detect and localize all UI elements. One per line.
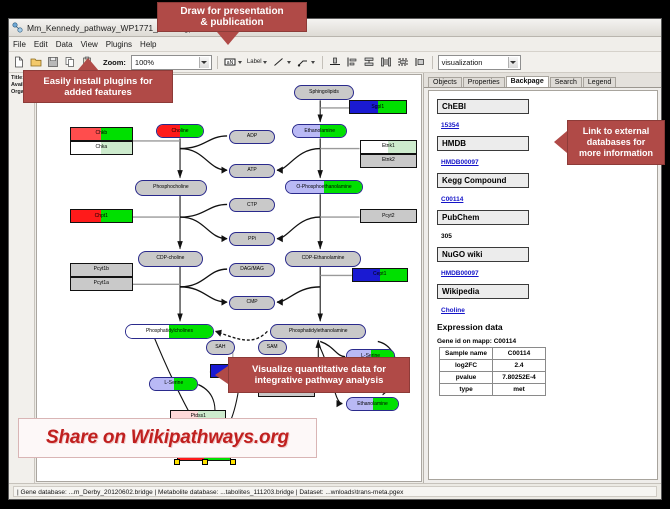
callout-plugins-line1: Easily install plugins for <box>43 76 152 87</box>
datanode-icon[interactable]: aN <box>223 55 237 69</box>
callout-draw: Draw for presentation & publication <box>157 2 307 32</box>
database-section-header: NuGO wiki <box>437 247 529 262</box>
menu-bar: File Edit Data View Plugins Help <box>9 37 661 52</box>
node-label: CMP <box>246 300 257 305</box>
menu-item-plugins[interactable]: Plugins <box>106 40 132 49</box>
database-value: 305 <box>441 233 452 240</box>
gene-node[interactable]: Sgpl1 <box>349 100 407 114</box>
callout-draw-arrow-icon <box>217 32 239 45</box>
selection-handle[interactable] <box>174 459 180 465</box>
line-dropdown[interactable] <box>272 55 293 69</box>
node-label: Pcyt2 <box>382 214 395 219</box>
table-cell: met <box>493 384 546 396</box>
gene-node[interactable]: Chka <box>70 141 133 155</box>
node-label: DAG/MAG <box>240 267 264 272</box>
menu-item-data[interactable]: Data <box>56 40 73 49</box>
node-label: CDP-choline <box>156 256 184 261</box>
callout-visualize-line1: Visualize quantitative data for <box>252 364 386 375</box>
table-row: pvalue7.80252E-4 <box>440 372 546 384</box>
table-cell: log2FC <box>440 360 493 372</box>
metabolite-node[interactable]: CDP-choline <box>138 251 203 266</box>
tab-backpage[interactable]: Backpage <box>506 76 549 87</box>
gene-node[interactable]: Etnk2 <box>360 154 418 168</box>
node-label: Chka <box>95 145 107 150</box>
node-label: PPi <box>248 237 256 242</box>
svg-text:aN: aN <box>227 60 234 66</box>
menu-item-file[interactable]: File <box>13 40 26 49</box>
node-label: SAM <box>267 345 278 350</box>
distribute-icon[interactable] <box>379 55 393 69</box>
callout-link-line3: more information <box>579 148 653 158</box>
metabolite-node[interactable]: Ethanolamine <box>292 124 347 138</box>
callout-share-text: Share on Wikipathways.org <box>46 427 289 449</box>
database-link[interactable]: Choline <box>441 307 465 314</box>
table-row: log2FC2.4 <box>440 360 546 372</box>
chevron-down-icon-2[interactable] <box>508 57 518 68</box>
tab-legend[interactable]: Legend <box>583 77 616 87</box>
metabolite-node[interactable]: Ethanolamine <box>346 397 399 411</box>
toolbar-separator <box>217 56 218 69</box>
database-link[interactable]: HMDB00097 <box>441 159 479 166</box>
node-label: ADP <box>247 134 257 139</box>
table-cell: C00114 <box>493 348 546 360</box>
toolbar-separator-3 <box>432 56 433 69</box>
table-cell: 7.80252E-4 <box>493 372 546 384</box>
gene-node[interactable]: Cept1 <box>352 268 408 282</box>
metabolite-node[interactable]: ADP <box>229 130 275 144</box>
metabolite-node[interactable]: Phosphatidylethanolamine <box>270 324 366 339</box>
group-icon[interactable] <box>396 55 410 69</box>
metabolite-node[interactable]: Choline <box>156 124 204 138</box>
zoom-value: 100% <box>135 58 154 67</box>
interaction-dropdown[interactable] <box>296 55 317 69</box>
gene-node[interactable]: Pcyt2 <box>360 209 418 223</box>
menu-item-view[interactable]: View <box>81 40 98 49</box>
node-label: Pcyt1a <box>94 281 109 286</box>
copy-icon[interactable] <box>63 55 77 69</box>
selection-handle[interactable] <box>202 459 208 465</box>
node-label: CTP <box>247 203 257 208</box>
tab-properties[interactable]: Properties <box>463 77 505 87</box>
new-file-icon[interactable] <box>12 55 26 69</box>
metabolite-node[interactable]: ATP <box>229 164 275 178</box>
node-label: SAH <box>215 345 225 350</box>
visualization-value: visualization <box>442 58 483 67</box>
node-label: Etnk2 <box>382 158 395 163</box>
label-dropdown-text: Label <box>247 59 262 65</box>
node-label: Ethanolamine <box>357 402 388 407</box>
table-cell: 2.4 <box>493 360 546 372</box>
callout-share: Share on Wikipathways.org <box>18 418 317 458</box>
node-label: O-Phosphoethanolamine <box>296 185 351 190</box>
callout-link: Link to external databases for more info… <box>567 120 665 165</box>
table-row: Sample nameC00114 <box>440 348 546 360</box>
window-titlebar: Mm_Kennedy_pathway_WP1771_45176.gpml <box>9 19 661 37</box>
node-label: Ethanolamine <box>304 129 335 134</box>
zoom-label: Zoom: <box>103 58 126 67</box>
database-link[interactable]: 15354 <box>441 122 459 129</box>
database-section-header: Kegg Compound <box>437 173 529 188</box>
callout-plugins: Easily install plugins for added feature… <box>23 70 173 103</box>
table-row: typemet <box>440 384 546 396</box>
database-section-header: ChEBI <box>437 99 529 114</box>
callout-draw-line2: & publication <box>200 17 263 28</box>
side-panel-tabs: Objects Properties Backpage Search Legen… <box>424 73 661 88</box>
node-label: Chpt1 <box>95 214 108 219</box>
stack-vertical-icon[interactable] <box>362 55 376 69</box>
callout-draw-line1: Draw for presentation <box>180 6 283 17</box>
line-icon[interactable] <box>272 55 286 69</box>
node-label: Chkb <box>95 131 107 136</box>
metabolite-node[interactable]: CTP <box>229 198 275 212</box>
callout-plugins-line2: added features <box>64 87 132 98</box>
expression-data-heading: Expression data <box>437 322 657 332</box>
toolbar-separator-2 <box>322 56 323 69</box>
table-cell: pvalue <box>440 372 493 384</box>
node-label: Sphingolipids <box>309 90 339 95</box>
visualization-combobox[interactable]: visualization <box>438 55 521 70</box>
callout-link-line2: databases for <box>587 137 646 147</box>
table-cell: Sample name <box>440 348 493 360</box>
node-label: Cept1 <box>373 272 386 277</box>
callout-link-arrow-icon <box>554 131 567 153</box>
status-bar-text: | Gene database: ...m_Derby_20120602.bri… <box>13 486 657 497</box>
save-icon[interactable] <box>46 55 60 69</box>
node-label: CDP-Ethanolamine <box>302 256 345 261</box>
order-icon[interactable] <box>413 55 427 69</box>
label-dropdown[interactable]: Label <box>247 59 269 65</box>
pathvisio-icon <box>12 22 23 33</box>
expression-table: Sample nameC00114log2FC2.4pvalue7.80252E… <box>439 347 546 396</box>
node-label: L-Serine <box>164 381 183 386</box>
metabolite-node[interactable]: CMP <box>229 296 275 310</box>
metabolite-node[interactable]: Sphingolipids <box>294 85 354 100</box>
gene-node[interactable]: Pcyt1b <box>70 263 133 277</box>
status-bar: | Gene database: ...m_Derby_20120602.bri… <box>9 483 661 499</box>
metabolite-node[interactable]: DAG/MAG <box>229 263 275 277</box>
database-section-header: PubChem <box>437 210 529 225</box>
menu-item-edit[interactable]: Edit <box>34 40 48 49</box>
screenshot-root: Mm_Kennedy_pathway_WP1771_45176.gpml Fil… <box>0 0 670 509</box>
database-section-header: Wikipedia <box>437 284 529 299</box>
callout-visualize-arrow-icon <box>215 366 228 384</box>
gene-node[interactable]: Chkb <box>70 127 133 141</box>
chevron-down-icon[interactable] <box>199 57 209 68</box>
gene-id-line: Gene id on mapp: C00114 <box>437 338 657 345</box>
tab-search[interactable]: Search <box>550 77 582 87</box>
database-link[interactable]: C00114 <box>441 196 463 203</box>
callout-visualize-line2: integrative pathway analysis <box>255 375 384 386</box>
table-cell: type <box>440 384 493 396</box>
align-left-icon[interactable] <box>345 55 359 69</box>
metabolite-node[interactable]: CDP-Ethanolamine <box>285 251 362 266</box>
metabolite-node[interactable]: SAH <box>206 340 235 355</box>
node-label: ATP <box>247 168 256 173</box>
interaction-icon[interactable] <box>296 55 310 69</box>
selection-handle[interactable] <box>230 459 236 465</box>
metabolite-node[interactable]: O-Phosphoethanolamine <box>285 180 364 194</box>
callout-visualize: Visualize quantitative data for integrat… <box>228 357 410 393</box>
gene-node[interactable]: Etnk1 <box>360 140 418 154</box>
metabolite-node[interactable]: Phosphatidylcholines <box>125 324 213 339</box>
node-label: Phosphatidylethanolamine <box>289 329 348 334</box>
datanode-dropdown[interactable]: aN <box>223 55 244 69</box>
node-label: Sgpl1 <box>371 105 384 110</box>
align-top-icon[interactable] <box>328 55 342 69</box>
metabolite-node[interactable]: Phosphocholine <box>135 180 207 195</box>
metabolite-node[interactable]: PPi <box>229 232 275 246</box>
database-section-header: HMDB <box>437 136 529 151</box>
metabolite-node[interactable]: L-Serine <box>149 377 198 391</box>
gene-node[interactable]: Chpt1 <box>70 209 133 223</box>
database-link[interactable]: HMDB00097 <box>441 270 479 277</box>
node-label: Choline <box>172 129 189 134</box>
open-folder-icon[interactable] <box>29 55 43 69</box>
menu-item-help[interactable]: Help <box>140 40 156 49</box>
node-label: Pcyt1b <box>94 267 109 272</box>
callout-link-line1: Link to external <box>583 126 650 136</box>
gene-node[interactable]: Pcyt1a <box>70 277 133 291</box>
node-label: Etnk1 <box>382 144 395 149</box>
node-label: Phosphatidylcholines <box>146 329 193 334</box>
metabolite-node[interactable]: SAM <box>258 340 287 355</box>
node-label: Phosphocholine <box>153 185 189 190</box>
tab-objects[interactable]: Objects <box>428 77 462 87</box>
zoom-combobox[interactable]: 100% <box>131 55 212 70</box>
